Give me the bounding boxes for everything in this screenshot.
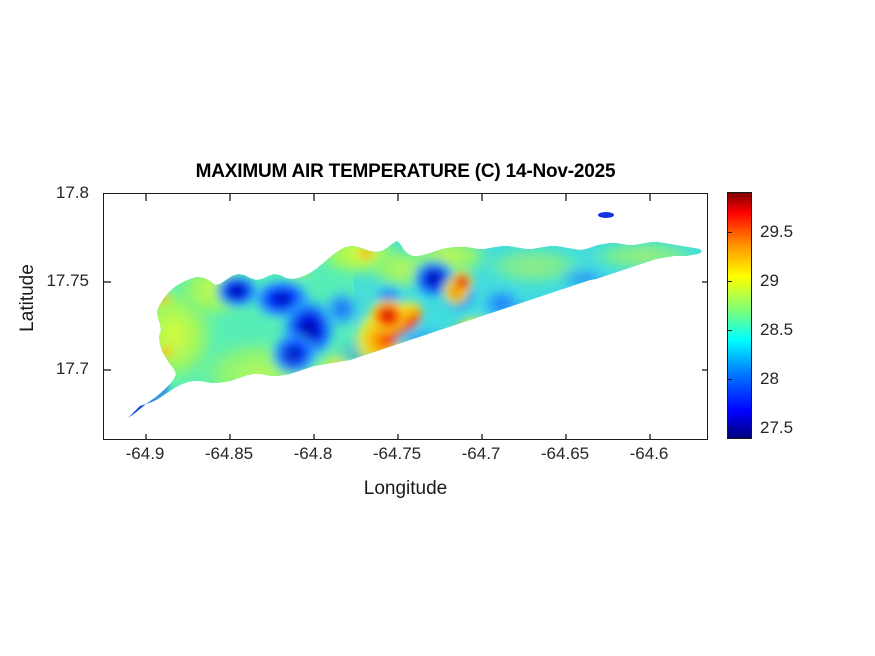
colorbar[interactable] [727, 192, 752, 439]
colorbar-label-28-5: 28.5 [760, 320, 793, 340]
x-tick-label-minus64-6: -64.6 [630, 444, 669, 464]
colorbar-tickmark-28-5 [727, 330, 732, 331]
x-tick-label-minus64-8: -64.8 [294, 444, 333, 464]
x-tick-label-minus64-75: -64.75 [373, 444, 421, 464]
matlab-figure-canvas: MAXIMUM AIR TEMPERATURE (C) 14-Nov-2025 … [0, 0, 875, 656]
y-tick-label-17-75: 17.75 [46, 271, 89, 291]
buck-island-marker [594, 208, 620, 224]
x-axis-label: Longitude [103, 478, 708, 500]
x-tick-label-minus64-65: -64.65 [541, 444, 589, 464]
x-tick-label-minus64-7: -64.7 [462, 444, 501, 464]
temperature-contour-map [104, 194, 708, 440]
map-axes[interactable] [103, 193, 708, 440]
colorbar-label-27-5: 27.5 [760, 418, 793, 438]
colorbar-tickmark-29-5 [727, 232, 732, 233]
colorbar-tickmark-29 [727, 281, 732, 282]
y-tick-label-17-7: 17.7 [56, 359, 89, 379]
colorbar-label-29-5: 29.5 [760, 222, 793, 242]
y-tick-label-17-8: 17.8 [56, 183, 89, 203]
colorbar-label-28: 28 [760, 369, 779, 389]
colorbar-tickmark-27-5 [727, 428, 732, 429]
y-axis-label: Latitude [17, 238, 39, 358]
island-temperature-field [104, 194, 708, 440]
chart-title: MAXIMUM AIR TEMPERATURE (C) 14-Nov-2025 [103, 161, 708, 183]
x-tick-label-minus64-9: -64.9 [126, 444, 165, 464]
colorbar-label-29: 29 [760, 271, 779, 291]
colorbar-tickmark-28 [727, 379, 732, 380]
x-tick-label-minus64-85: -64.85 [205, 444, 253, 464]
